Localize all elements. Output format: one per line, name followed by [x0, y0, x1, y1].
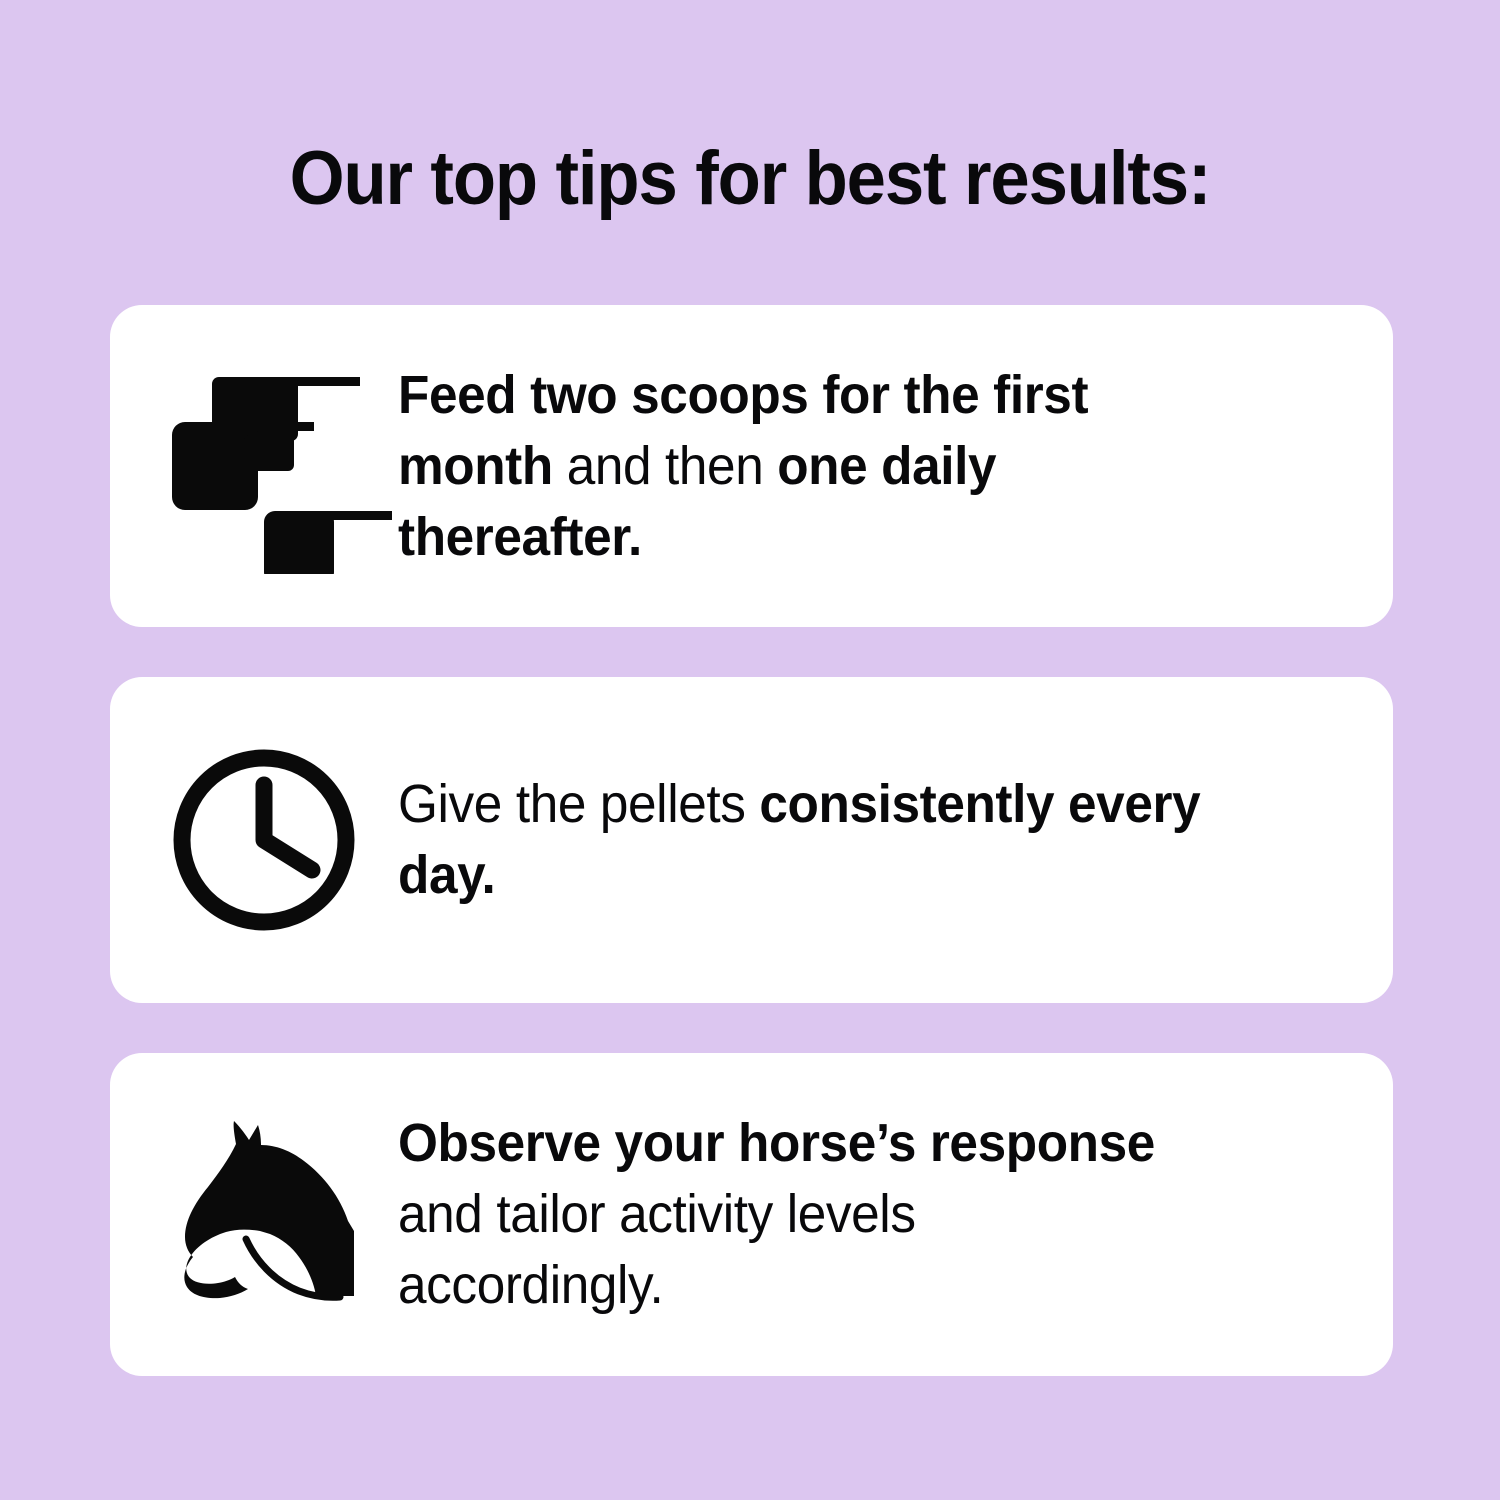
tip-card-observation: Observe your horse’s response and tailor… [110, 1053, 1393, 1376]
tips-infographic: Our top tips for best results: [0, 0, 1500, 1500]
tip-card-consistency: Give the pellets consistently every day. [110, 677, 1393, 1003]
clock-icon [164, 740, 398, 940]
page-title: Our top tips for best results: [53, 133, 1448, 225]
tips-card-list: Feed two scoops for the first month and … [110, 305, 1393, 1376]
tip-text-observation: Observe your horse’s response and tailor… [398, 1108, 1225, 1321]
horse-head-icon [164, 1111, 398, 1319]
two-scoops-icon [164, 359, 398, 574]
tip-card-feeding: Feed two scoops for the first month and … [110, 305, 1393, 627]
tip-text-consistency: Give the pellets consistently every day. [398, 769, 1263, 911]
tip-text-feeding: Feed two scoops for the first month and … [398, 360, 1244, 573]
